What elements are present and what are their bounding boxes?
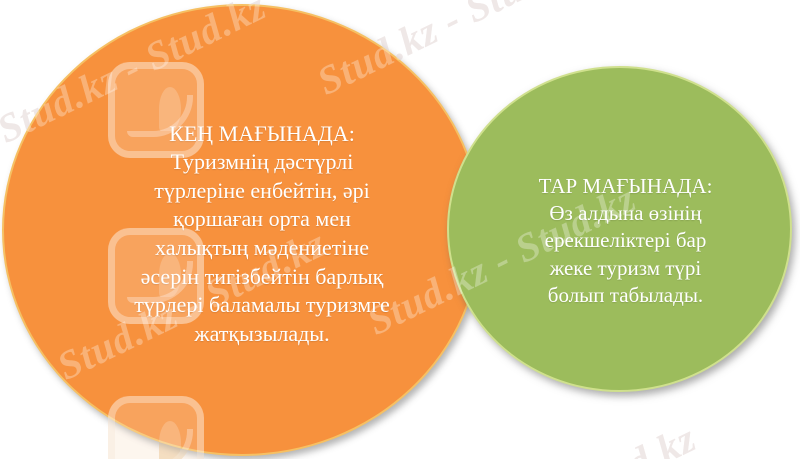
- orange-line-1: КЕҢ МАҒЫНАДА:: [97, 120, 427, 149]
- green-line-3: ерекшеліктері бар: [496, 227, 756, 254]
- green-circle-text: ТАР МАҒЫНАДА: Өз алдына өзінің ерекшелік…: [496, 173, 756, 309]
- orange-circle-broad-sense[interactable]: КЕҢ МАҒЫНАДА: Туризмнің дәстүрлі түрлері…: [2, 4, 482, 456]
- green-line-4: жеке туризм түрі: [496, 255, 756, 282]
- orange-line-7: түрлері баламалы туризмге: [97, 291, 427, 320]
- orange-line-2: Туризмнің дәстүрлі: [97, 148, 427, 177]
- green-line-2: Өз алдына өзінің: [496, 200, 756, 227]
- green-line-1: ТАР МАҒЫНАДА:: [496, 173, 756, 200]
- green-circle-narrow-sense[interactable]: ТАР МАҒЫНАДА: Өз алдына өзінің ерекшелік…: [447, 66, 792, 392]
- orange-circle-text: КЕҢ МАҒЫНАДА: Туризмнің дәстүрлі түрлері…: [97, 120, 427, 349]
- watermark-text: Stud.kz - Stud.kz: [420, 414, 704, 459]
- green-line-5: болып табылады.: [496, 282, 756, 309]
- orange-line-5: халықтың мәдениетіне: [97, 234, 427, 263]
- orange-line-6: әсерін тигізбейтін барлық: [97, 263, 427, 292]
- orange-line-4: қоршаған орта мен: [97, 205, 427, 234]
- orange-line-3: түрлеріне енбейтін, әрі: [97, 177, 427, 206]
- slide-canvas: Stud.kz - Stud.kzStud.kz - Stud.kzStud.k…: [0, 0, 800, 459]
- orange-line-8: жатқызылады.: [97, 320, 427, 349]
- watermark-text: Stud.kz - Stud.kz: [420, 414, 704, 459]
